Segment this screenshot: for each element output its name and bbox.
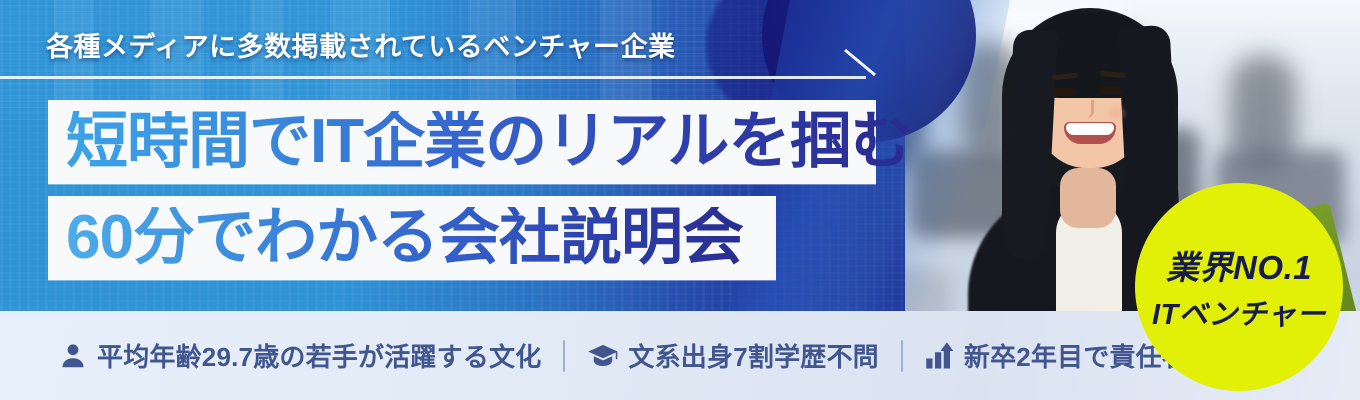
person-icon — [58, 341, 88, 371]
feature-list: 平均年齢29.7歳の若手が活躍する文化 文系出身7割学歴不問 — [58, 311, 1214, 400]
feature-separator — [901, 340, 903, 372]
feature-label: 文系出身7割学歴不問 — [628, 337, 878, 374]
badge-line-1: 業界NO.1 — [1166, 241, 1312, 289]
eyebrow-text: 各種メディアに多数掲載されているベンチャー企業 — [46, 25, 676, 64]
eye-left — [1053, 88, 1077, 96]
smiling-mouth — [1064, 122, 1116, 144]
headline-plate-1: 短時間でIT企業のリアルを掴む — [48, 100, 876, 184]
feature-label: 平均年齢29.7歳の若手が活躍する文化 — [97, 337, 541, 374]
graduation-cap-icon — [587, 341, 619, 371]
eye-right — [1099, 86, 1123, 94]
headline-line-1: 短時間でIT企業のリアルを掴む — [48, 111, 911, 173]
header-divider-line — [0, 76, 866, 79]
feature-item-education: 文系出身7割学歴不問 — [587, 337, 878, 374]
headline-plate-2: 60分でわかる会社説明会 — [48, 196, 776, 280]
recruitment-banner: 各種メディアに多数掲載されているベンチャー企業 短時間でIT企業のリアルを掴む … — [0, 0, 1360, 400]
cheek — [1108, 108, 1124, 118]
industry-no1-badge: 業界NO.1 ITベンチャー — [1135, 183, 1343, 391]
arrow-icon — [843, 48, 883, 80]
badge-line-2: ITベンチャー — [1152, 291, 1326, 333]
nose — [1080, 100, 1094, 118]
feature-separator — [563, 340, 565, 372]
neck — [1060, 168, 1116, 228]
bar-chart-icon — [925, 342, 955, 370]
teeth — [1066, 123, 1114, 135]
headline-line-2: 60分でわかる会社説明会 — [48, 207, 743, 269]
feature-item-average-age: 平均年齢29.7歳の若手が活躍する文化 — [58, 337, 541, 374]
